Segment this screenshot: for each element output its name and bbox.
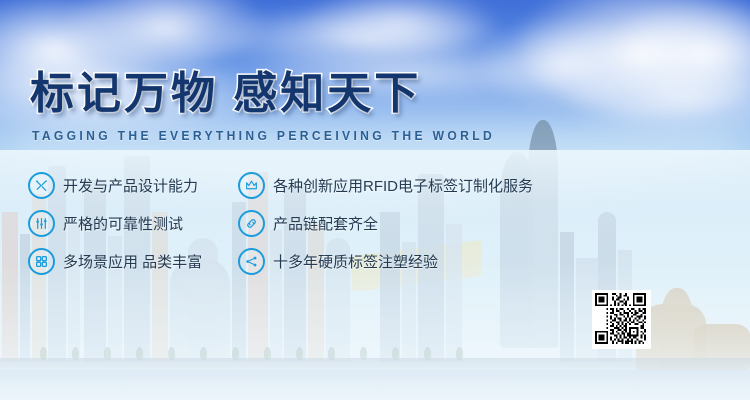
- feature-label: 产品链配套齐全: [273, 213, 378, 234]
- link-icon: [238, 210, 265, 237]
- share-icon: [238, 248, 265, 275]
- grid-icon: [28, 248, 55, 275]
- feature-list: 开发与产品设计能力 严格的可靠性测试: [0, 162, 750, 282]
- feature-label: 十多年硬质标签注塑经验: [273, 251, 438, 272]
- qr-code[interactable]: [592, 290, 651, 349]
- feature-item-applications: 多场景应用 品类丰富: [28, 248, 202, 275]
- water: [0, 370, 750, 400]
- sliders-icon: [28, 210, 55, 237]
- feature-item-development: 开发与产品设计能力: [28, 172, 198, 199]
- promo-banner: 标记万物 感知天下 TAGGING THE EVERYTHING PERCEIV…: [0, 0, 750, 400]
- feature-item-rfid-service: 各种创新应用RFID电子标签订制化服务: [238, 172, 533, 199]
- feature-item-experience: 十多年硬质标签注塑经验: [238, 248, 438, 275]
- page-title: 标记万物 感知天下: [30, 72, 421, 116]
- qr-code-image: [593, 291, 648, 346]
- tools-icon: [28, 172, 55, 199]
- feature-item-reliability: 严格的可靠性测试: [28, 210, 183, 237]
- feature-label: 严格的可靠性测试: [63, 213, 183, 234]
- feature-label: 各种创新应用RFID电子标签订制化服务: [273, 175, 533, 196]
- page-subtitle: TAGGING THE EVERYTHING PERCEIVING THE WO…: [32, 128, 495, 143]
- feature-label: 开发与产品设计能力: [63, 175, 198, 196]
- feature-item-product-chain: 产品链配套齐全: [238, 210, 378, 237]
- crown-icon: [238, 172, 265, 199]
- feature-label: 多场景应用 品类丰富: [63, 251, 202, 272]
